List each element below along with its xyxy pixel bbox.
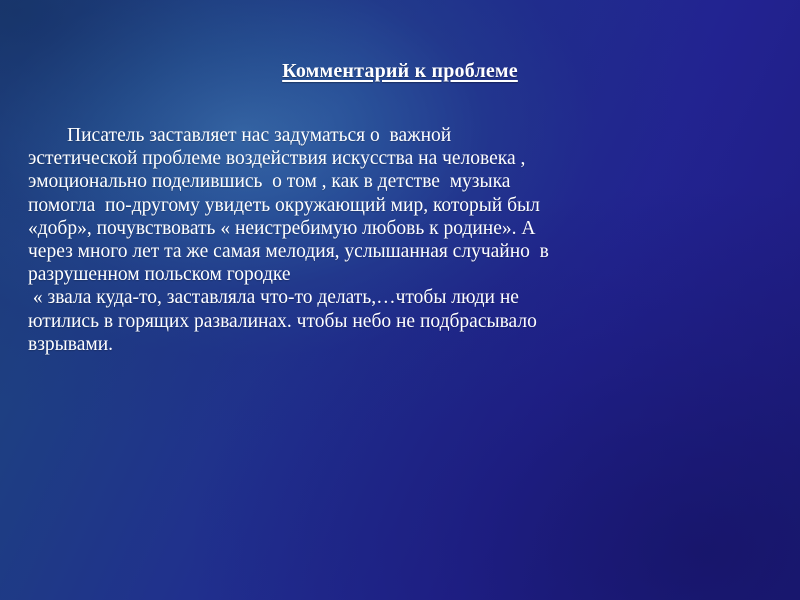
slide-title: Комментарий к проблеме: [282, 60, 518, 83]
body-line: ютились в горящих развалинах. чтобы небо…: [28, 310, 700, 333]
slide-title-container: Комментарий к проблеме: [0, 60, 800, 83]
body-line: «добр», почувствовать « неистребимую люб…: [28, 217, 700, 240]
body-line: разрушенном польском городке: [28, 263, 700, 286]
body-line: « звала куда-то, заставляла что-то делат…: [28, 286, 700, 309]
body-line: помогла по-другому увидеть окружающий ми…: [28, 194, 700, 217]
presentation-slide: Комментарий к проблеме Писатель заставля…: [0, 0, 800, 600]
body-line: Писатель заставляет нас задуматься о важ…: [28, 124, 700, 147]
body-line: эмоционально поделившись о том , как в д…: [28, 170, 700, 193]
body-line: взрывами.: [28, 333, 700, 356]
slide-body-text: Писатель заставляет нас задуматься о важ…: [28, 124, 700, 356]
body-line: эстетической проблеме воздействия искусс…: [28, 147, 700, 170]
body-line: через много лет та же самая мелодия, усл…: [28, 240, 700, 263]
